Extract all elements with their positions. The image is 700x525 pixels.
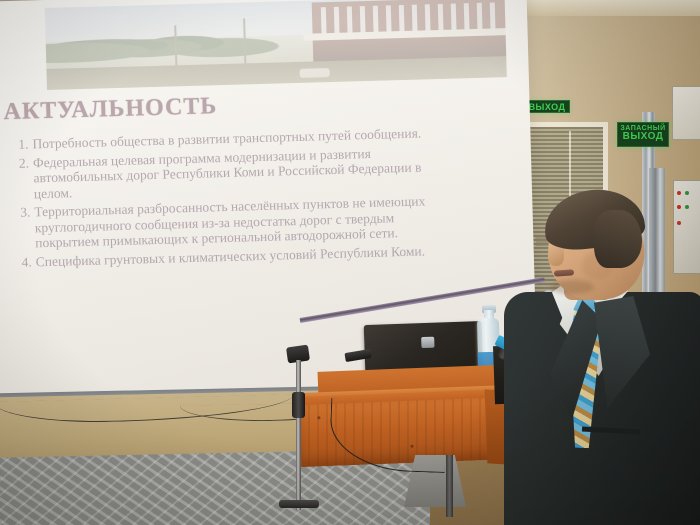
slide-list-item-number: 4. (12, 254, 32, 270)
microphone-stand-foot (279, 500, 319, 508)
podium-leg (446, 455, 453, 517)
hp-logo-icon (421, 337, 434, 348)
microphone-stand-pole (296, 360, 301, 510)
slide-bullet-list: 1. Потребность общества в развитии транс… (4, 125, 438, 273)
panel-led-green (685, 191, 689, 195)
hair-side (594, 210, 642, 268)
panel-led-red (677, 191, 681, 195)
emergency-exit-sign-line2: ВЫХОД (618, 132, 668, 142)
podium-screw (317, 416, 320, 419)
slide-list-item: 2. Федеральная целевая программа модерни… (5, 144, 436, 202)
slide-list-item-number: 3. (10, 204, 30, 220)
microphone-stand-grip (292, 392, 305, 418)
slide-list-item-text: Территориальная разбросанность населённы… (34, 193, 425, 250)
slide-list-item: 3. Территориальная разбросанность населё… (6, 193, 437, 251)
emergency-exit-sign: ЗАПАСНЫЙ ВЫХОД (617, 122, 669, 147)
slide-title: АКТУАЛЬНОСТЬ (3, 93, 217, 126)
presentation-photo-scene: ВЫХОД ЗАПАСНЫЙ ВЫХОД АКТУАЛЬНОСТЬ 1. (0, 0, 700, 525)
slide-list-item-text: Федеральная целевая программа модернизац… (33, 145, 422, 200)
slide-list-item-number: 1. (8, 137, 28, 153)
chin-shadow (550, 280, 594, 294)
speaker-person (498, 196, 700, 525)
wall-box (672, 86, 700, 140)
slide-photo-banner (45, 0, 507, 90)
slide-list-item-number: 2. (9, 155, 29, 171)
nose (548, 246, 564, 266)
photo-car (300, 68, 330, 78)
exit-sign: ВЫХОД (524, 100, 570, 113)
